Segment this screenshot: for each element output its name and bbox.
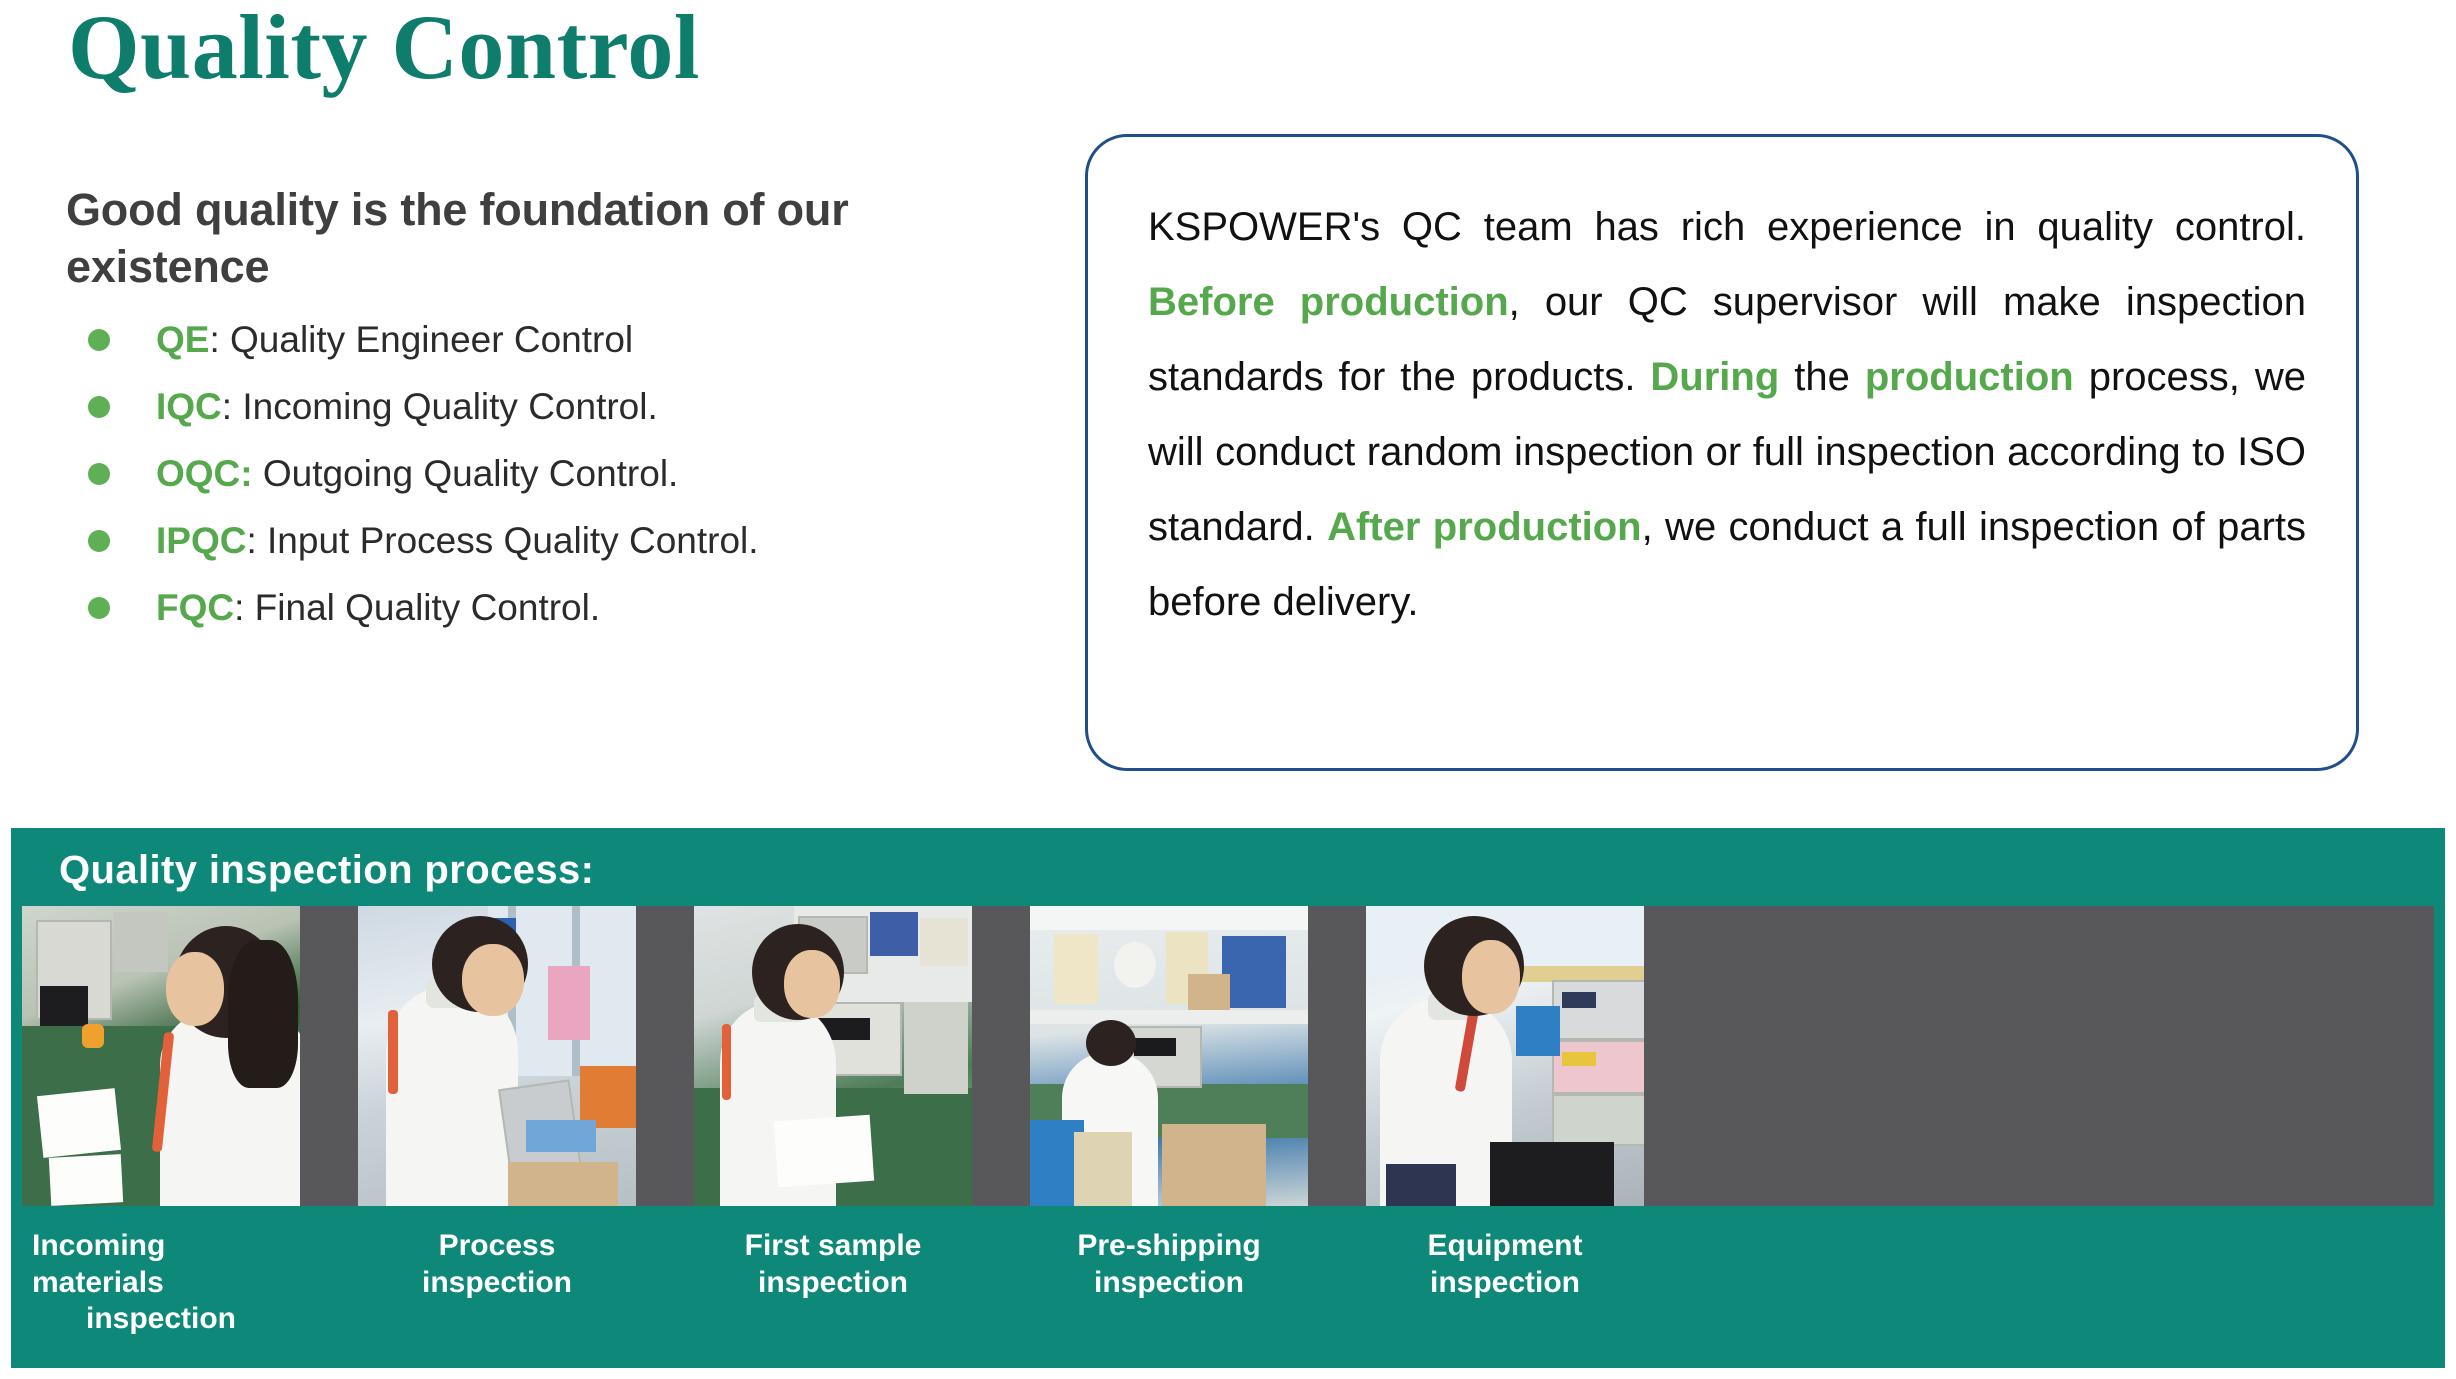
photo-slot-pre-shipping xyxy=(1030,906,1308,1206)
bullet-dot-icon xyxy=(88,329,110,351)
list-item-text: IPQC: Input Process Quality Control. xyxy=(156,516,759,566)
photo-slot-incoming-materials xyxy=(22,906,300,1206)
list-item: FQC: Final Quality Control. xyxy=(66,583,1026,635)
process-photo-strip xyxy=(22,906,2434,1206)
caption-gap xyxy=(972,1220,1030,1340)
list-item-separator xyxy=(253,453,263,494)
bullet-dot-icon xyxy=(88,463,110,485)
caption-equipment: Equipment inspection xyxy=(1366,1220,1644,1340)
qc-description-text: KSPOWER's QC team has rich experience in… xyxy=(1148,190,2306,640)
bullet-dot-icon xyxy=(88,396,110,418)
list-item: IPQC: Input Process Quality Control. xyxy=(66,516,1026,568)
photo-slot-first-sample xyxy=(694,906,972,1206)
caption-line-1: Equipment xyxy=(1366,1228,1644,1265)
caption-line-1: First sample xyxy=(694,1228,972,1265)
caption-process-inspection: Process inspection xyxy=(358,1220,636,1340)
caption-gap xyxy=(1308,1220,1366,1340)
photo-gap xyxy=(300,906,358,1206)
list-item-abbr: QE xyxy=(156,319,209,360)
equipment-inspection-photo xyxy=(1366,906,1644,1206)
list-item-abbr: IPQC xyxy=(156,520,246,561)
list-item: IQC: Incoming Quality Control. xyxy=(66,382,1026,434)
list-item-description: Quality Engineer Control xyxy=(230,319,633,360)
list-item-text: IQC: Incoming Quality Control. xyxy=(156,382,658,432)
body-text: KSPOWER's QC team has rich experience in… xyxy=(1148,205,2306,249)
photo-gap xyxy=(636,906,694,1206)
caption-line-1: Pre-shipping xyxy=(1030,1228,1308,1265)
body-text: the xyxy=(1779,355,1865,399)
pre-shipping-photo xyxy=(1030,906,1308,1206)
caption-gap xyxy=(300,1220,358,1340)
caption-incoming-materials: Incoming materials inspection xyxy=(22,1220,300,1340)
caption-line-2: inspection xyxy=(358,1265,636,1302)
photo-slot-process xyxy=(358,906,636,1206)
bullet-dot-icon xyxy=(88,530,110,552)
list-item-description: Outgoing Quality Control. xyxy=(263,453,678,494)
first-sample-photo xyxy=(694,906,972,1206)
emphasis-text: production xyxy=(1865,355,2074,399)
page-title: Quality Control xyxy=(68,0,700,100)
caption-line-1: Process xyxy=(358,1228,636,1265)
list-item-separator: : xyxy=(246,520,267,561)
caption-line-1: Incoming materials xyxy=(22,1228,300,1301)
photo-slot-equipment xyxy=(1366,906,1644,1206)
emphasis-text: After production xyxy=(1327,505,1642,549)
list-item: QE: Quality Engineer Control xyxy=(66,315,1026,367)
emphasis-text: During xyxy=(1650,355,1779,399)
list-item-text: FQC: Final Quality Control. xyxy=(156,583,600,633)
caption-pre-shipping: Pre-shipping inspection xyxy=(1030,1220,1308,1340)
emphasis-text: Before production xyxy=(1148,280,1509,324)
incoming-materials-photo xyxy=(22,906,300,1206)
caption-first-sample: First sample inspection xyxy=(694,1220,972,1340)
quality-inspection-process-banner: Quality inspection process: xyxy=(11,828,2445,1368)
list-item-text: QE: Quality Engineer Control xyxy=(156,315,633,365)
list-item-separator: : xyxy=(234,587,255,628)
list-item-abbr: FQC xyxy=(156,587,234,628)
list-item-text: OQC: Outgoing Quality Control. xyxy=(156,449,678,499)
caption-line-2: inspection xyxy=(1030,1265,1308,1302)
photo-gap xyxy=(972,906,1030,1206)
left-content-column: Good quality is the foundation of our ex… xyxy=(66,182,1026,650)
process-banner-title: Quality inspection process: xyxy=(59,848,594,893)
list-item-separator: : xyxy=(209,319,230,360)
caption-line-2: inspection xyxy=(694,1265,972,1302)
photo-gap xyxy=(1308,906,1366,1206)
list-item-description: Incoming Quality Control. xyxy=(242,386,657,427)
list-item-description: Input Process Quality Control. xyxy=(267,520,759,561)
list-item-abbr: IQC xyxy=(156,386,222,427)
caption-gap xyxy=(636,1220,694,1340)
bullet-dot-icon xyxy=(88,597,110,619)
caption-line-2: inspection xyxy=(1366,1265,1644,1302)
list-item-abbr: OQC: xyxy=(156,453,253,494)
list-item-description: Final Quality Control. xyxy=(255,587,600,628)
qc-role-bullet-list: QE: Quality Engineer Control IQC: Incomi… xyxy=(66,315,1026,635)
process-caption-row: Incoming materials inspection Process in… xyxy=(22,1220,2434,1340)
list-item: OQC: Outgoing Quality Control. xyxy=(66,449,1026,501)
process-inspection-photo xyxy=(358,906,636,1206)
caption-line-2: inspection xyxy=(22,1301,300,1338)
list-item-separator: : xyxy=(222,386,243,427)
left-subheading: Good quality is the foundation of our ex… xyxy=(66,182,966,295)
